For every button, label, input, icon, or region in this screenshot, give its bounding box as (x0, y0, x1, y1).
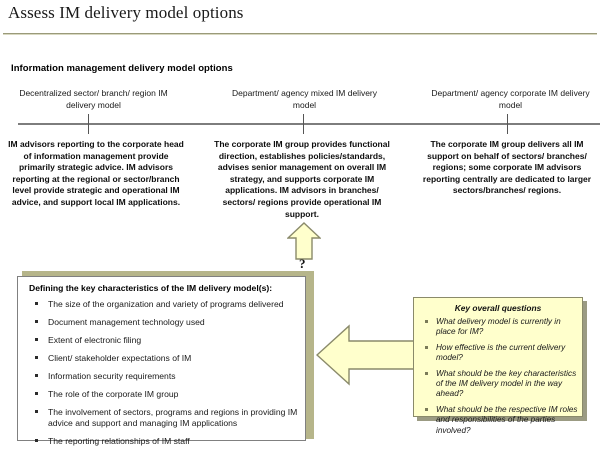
bullet-icon (35, 392, 38, 395)
list-item: Document management technology used (26, 317, 299, 328)
list-item-label: What delivery model is currently in plac… (436, 317, 561, 336)
axis-tick-corporate (507, 114, 508, 134)
page-title: Assess IM delivery model options (8, 2, 244, 24)
list-item: What delivery model is currently in plac… (418, 317, 578, 338)
column-header-decentralized: Decentralized sector/ branch/ region IM … (6, 88, 181, 111)
questions-list: What delivery model is currently in plac… (418, 317, 578, 441)
list-item: Extent of electronic filing (26, 335, 299, 346)
characteristics-list: The size of the organization and variety… (26, 299, 299, 454)
list-item-label: Client/ stakeholder expectations of IM (48, 353, 191, 363)
bullet-icon (425, 372, 428, 375)
characteristics-box: Defining the key characteristics of the … (17, 276, 306, 441)
list-item-label: How effective is the current delivery mo… (436, 343, 565, 362)
bullet-icon (35, 338, 38, 341)
list-item-label: Information security requirements (48, 371, 176, 381)
up-arrow-icon (287, 222, 321, 260)
column-body-decentralized: IM advisors reporting to the corporate h… (6, 139, 186, 209)
bullet-icon (425, 408, 428, 411)
left-arrow-icon (316, 324, 416, 386)
list-item: Information security requirements (26, 371, 299, 382)
bullet-icon (35, 356, 38, 359)
bullet-icon (35, 302, 38, 305)
column-header-corporate: Department/ agency corporate IM delivery… (428, 88, 593, 111)
column-header-mixed: Department/ agency mixed IM delivery mod… (222, 88, 387, 111)
bullet-icon (35, 410, 38, 413)
list-item-label: The involvement of sectors, programs and… (48, 407, 297, 428)
question-mark-annotation: ? (299, 256, 306, 272)
axis-tick-decentralized (88, 114, 89, 134)
list-item-label: The reporting relationships of IM staff (48, 436, 190, 446)
list-item-label: The size of the organization and variety… (48, 299, 284, 309)
bullet-icon (425, 320, 428, 323)
list-item: What should be the key characteristics o… (418, 369, 578, 400)
list-item: Client/ stakeholder expectations of IM (26, 353, 299, 364)
column-body-corporate: The corporate IM group delivers all IM s… (418, 139, 596, 197)
list-item: The size of the organization and variety… (26, 299, 299, 310)
characteristics-title: Defining the key characteristics of the … (29, 283, 272, 293)
questions-title: Key overall questions (414, 303, 582, 313)
list-item-label: Extent of electronic filing (48, 335, 141, 345)
questions-box: Key overall questions What delivery mode… (413, 297, 583, 417)
list-item-label: The role of the corporate IM group (48, 389, 178, 399)
list-item: What should be the respective IM roles a… (418, 405, 578, 436)
list-item-label: What should be the respective IM roles a… (436, 405, 578, 435)
list-item-label: Document management technology used (48, 317, 205, 327)
list-item: The reporting relationships of IM staff (26, 436, 299, 447)
bullet-icon (35, 320, 38, 323)
bullet-icon (35, 439, 38, 442)
bullet-icon (425, 346, 428, 349)
bullet-icon (35, 374, 38, 377)
continuum-axis (18, 123, 600, 125)
list-item: The role of the corporate IM group (26, 389, 299, 400)
title-divider (3, 33, 597, 35)
list-item-label: What should be the key characteristics o… (436, 369, 576, 399)
list-item: The involvement of sectors, programs and… (26, 407, 299, 429)
column-body-mixed: The corporate IM group provides function… (212, 139, 392, 220)
axis-tick-mixed (303, 114, 304, 134)
section-heading: Information management delivery model op… (11, 63, 233, 74)
list-item: How effective is the current delivery mo… (418, 343, 578, 364)
